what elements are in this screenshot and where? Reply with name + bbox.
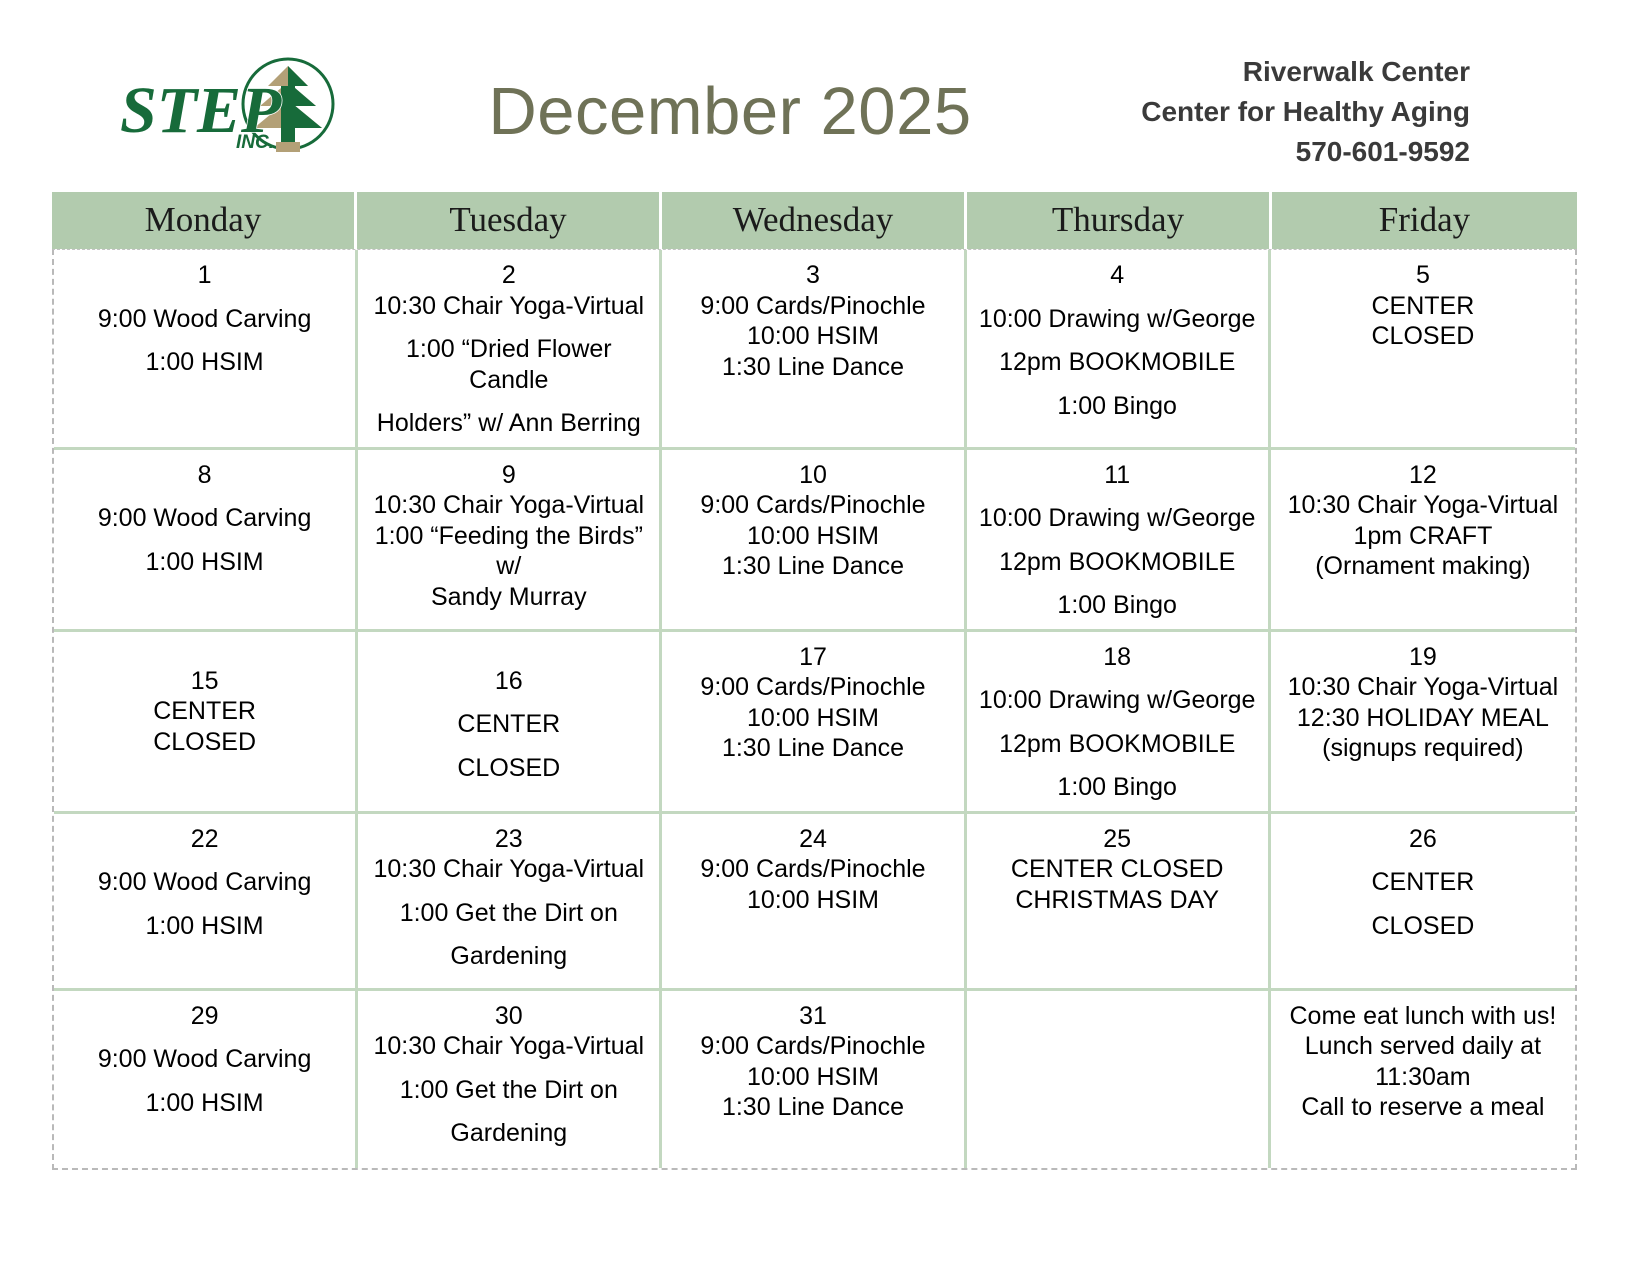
event-line: 10:00 HSIM: [668, 885, 957, 916]
page-header: STEP INC. December 2025 Riverwalk Center…: [0, 0, 1650, 192]
event-line: CENTER: [364, 709, 653, 740]
day-events: Come eat lunch with us!Lunch served dail…: [1277, 1001, 1569, 1123]
event-line: (signups required): [1277, 733, 1569, 764]
event-line: Lunch served daily at: [1277, 1031, 1569, 1062]
event-line: 1:00 Get the Dirt on: [364, 898, 653, 929]
day-number: 4: [973, 260, 1262, 291]
weekday-header-friday: Friday: [1272, 192, 1577, 249]
event-line: 1:30 Line Dance: [668, 733, 957, 764]
calendar-week-row: 89:00 Wood Carving1:00 HSIM910:30 Chair …: [54, 450, 1575, 632]
day-events: 9:00 Wood Carving1:00 HSIM: [60, 867, 349, 941]
day-number: 24: [668, 824, 957, 855]
day-events: 10:00 Drawing w/George12pm BOOKMOBILE1:0…: [973, 503, 1262, 621]
event-line: 9:00 Wood Carving: [60, 867, 349, 898]
event-line: CENTER: [60, 696, 349, 727]
calendar-week-row: 15CENTERCLOSED16CENTERCLOSED179:00 Cards…: [54, 632, 1575, 814]
center-name-line1: Riverwalk Center: [1141, 52, 1470, 92]
day-cell-26[interactable]: 26CENTERCLOSED: [1271, 814, 1575, 988]
event-line: 1:00 Bingo: [973, 772, 1262, 803]
event-line: 9:00 Cards/Pinochle: [668, 672, 957, 703]
day-cell-8[interactable]: 89:00 Wood Carving1:00 HSIM: [54, 450, 358, 629]
event-line: CLOSED: [1277, 321, 1569, 352]
event-line: Holders” w/ Ann Berring: [364, 408, 653, 439]
event-line: 1:30 Line Dance: [668, 551, 957, 582]
center-name-line2: Center for Healthy Aging: [1141, 92, 1470, 132]
event-line: 1pm CRAFT: [1277, 521, 1569, 552]
calendar-week-row: 299:00 Wood Carving1:00 HSIM3010:30 Chai…: [54, 991, 1575, 1168]
day-cell-30[interactable]: 3010:30 Chair Yoga-Virtual1:00 Get the D…: [358, 991, 662, 1168]
calendar-weeks: 19:00 Wood Carving1:00 HSIM210:30 Chair …: [52, 249, 1577, 1170]
event-line: 1:30 Line Dance: [668, 352, 957, 383]
event-line: 12pm BOOKMOBILE: [973, 347, 1262, 378]
day-cell-31[interactable]: 319:00 Cards/Pinochle10:00 HSIM1:30 Line…: [662, 991, 966, 1168]
event-line: 10:30 Chair Yoga-Virtual: [1277, 490, 1569, 521]
day-events: 9:00 Cards/Pinochle10:00 HSIM1:30 Line D…: [668, 291, 957, 383]
day-events: CENTERCLOSED: [60, 696, 349, 757]
event-line: 1:00 HSIM: [60, 911, 349, 942]
event-line: CENTER: [1277, 867, 1569, 898]
center-contact-block: Riverwalk Center Center for Healthy Agin…: [1141, 52, 1470, 171]
event-line: 1:00 HSIM: [60, 1088, 349, 1119]
event-line: 1:00 HSIM: [60, 347, 349, 378]
event-line: 10:30 Chair Yoga-Virtual: [364, 1031, 653, 1062]
day-number: 16: [364, 666, 653, 697]
day-cell-1[interactable]: 19:00 Wood Carving1:00 HSIM: [54, 250, 358, 447]
event-line: Come eat lunch with us!: [1277, 1001, 1569, 1032]
day-number: 8: [60, 460, 349, 491]
event-line: 10:30 Chair Yoga-Virtual: [364, 854, 653, 885]
event-line: 10:30 Chair Yoga-Virtual: [364, 291, 653, 322]
day-number: 30: [364, 1001, 653, 1032]
event-line: 10:30 Chair Yoga-Virtual: [364, 490, 653, 521]
day-cell-18[interactable]: 1810:00 Drawing w/George12pm BOOKMOBILE1…: [967, 632, 1271, 811]
event-line: 9:00 Cards/Pinochle: [668, 490, 957, 521]
event-line: 10:00 Drawing w/George: [973, 503, 1262, 534]
day-number: 22: [60, 824, 349, 855]
day-number: 19: [1277, 642, 1569, 673]
day-cell-19[interactable]: 1910:30 Chair Yoga-Virtual12:30 HOLIDAY …: [1271, 632, 1575, 811]
event-line: CLOSED: [364, 753, 653, 784]
calendar-week-row: 229:00 Wood Carving1:00 HSIM2310:30 Chai…: [54, 814, 1575, 991]
day-events: 9:00 Wood Carving1:00 HSIM: [60, 304, 349, 378]
day-number: 3: [668, 260, 957, 291]
calendar-grid: MondayTuesdayWednesdayThursdayFriday 19:…: [52, 192, 1577, 1170]
calendar-week-row: 19:00 Wood Carving1:00 HSIM210:30 Chair …: [54, 250, 1575, 450]
day-cell-3[interactable]: 39:00 Cards/Pinochle10:00 HSIM1:30 Line …: [662, 250, 966, 447]
event-line: 1:00 “Feeding the Birds” w/: [364, 521, 653, 582]
event-line: 1:00 Get the Dirt on: [364, 1075, 653, 1106]
day-number: 29: [60, 1001, 349, 1032]
event-line: 11:30am: [1277, 1062, 1569, 1093]
event-line: 1:00 HSIM: [60, 547, 349, 578]
event-line: CENTER: [1277, 291, 1569, 322]
day-events: 10:30 Chair Yoga-Virtual1:00 Get the Dir…: [364, 1031, 653, 1149]
event-line: 10:00 Drawing w/George: [973, 685, 1262, 716]
day-cell-24[interactable]: 249:00 Cards/Pinochle10:00 HSIM: [662, 814, 966, 988]
day-cell-9[interactable]: 910:30 Chair Yoga-Virtual1:00 “Feeding t…: [358, 450, 662, 629]
day-events: 9:00 Cards/Pinochle10:00 HSIM: [668, 854, 957, 915]
day-events: 9:00 Cards/Pinochle10:00 HSIM1:30 Line D…: [668, 1031, 957, 1123]
event-line: 10:00 Drawing w/George: [973, 304, 1262, 335]
day-cell-23[interactable]: 2310:30 Chair Yoga-Virtual1:00 Get the D…: [358, 814, 662, 988]
day-events: CENTERCLOSED: [1277, 291, 1569, 352]
day-cell-17[interactable]: 179:00 Cards/Pinochle10:00 HSIM1:30 Line…: [662, 632, 966, 811]
day-number: 26: [1277, 824, 1569, 855]
day-events: 10:30 Chair Yoga-Virtual1:00 Get the Dir…: [364, 854, 653, 972]
day-cell-empty[interactable]: [967, 991, 1271, 1168]
event-line: Sandy Murray: [364, 582, 653, 613]
day-cell-22[interactable]: 229:00 Wood Carving1:00 HSIM: [54, 814, 358, 988]
day-cell-25[interactable]: 25CENTER CLOSEDCHRISTMAS DAY: [967, 814, 1271, 988]
day-number: 12: [1277, 460, 1569, 491]
day-cell-4[interactable]: 410:00 Drawing w/George12pm BOOKMOBILE1:…: [967, 250, 1271, 447]
day-cell-11[interactable]: 1110:00 Drawing w/George12pm BOOKMOBILE1…: [967, 450, 1271, 629]
weekday-header-row: MondayTuesdayWednesdayThursdayFriday: [52, 192, 1577, 249]
event-line: CENTER CLOSED: [973, 854, 1262, 885]
day-events: 10:00 Drawing w/George12pm BOOKMOBILE1:0…: [973, 304, 1262, 422]
day-events: CENTER CLOSEDCHRISTMAS DAY: [973, 854, 1262, 915]
event-line: 10:00 HSIM: [668, 321, 957, 352]
center-phone: 570-601-9592: [1141, 132, 1470, 172]
day-events: 10:30 Chair Yoga-Virtual1:00 “Feeding th…: [364, 490, 653, 612]
day-cell-12[interactable]: 1210:30 Chair Yoga-Virtual1pm CRAFT(Orna…: [1271, 450, 1575, 629]
day-events: CENTERCLOSED: [1277, 867, 1569, 941]
event-line: 9:00 Wood Carving: [60, 503, 349, 534]
event-line: Call to reserve a meal: [1277, 1092, 1569, 1123]
weekday-header-wednesday: Wednesday: [662, 192, 967, 249]
weekday-header-thursday: Thursday: [967, 192, 1272, 249]
event-line: 12pm BOOKMOBILE: [973, 729, 1262, 760]
day-number: 10: [668, 460, 957, 491]
day-number: 9: [364, 460, 653, 491]
day-cell-empty[interactable]: Come eat lunch with us!Lunch served dail…: [1271, 991, 1575, 1168]
weekday-header-tuesday: Tuesday: [357, 192, 662, 249]
day-number: 18: [973, 642, 1262, 673]
event-line: 12pm BOOKMOBILE: [973, 547, 1262, 578]
day-number: 1: [60, 260, 349, 291]
day-number: 15: [60, 666, 349, 697]
event-line: Gardening: [364, 1118, 653, 1149]
day-events: 10:30 Chair Yoga-Virtual1pm CRAFT(Orname…: [1277, 490, 1569, 582]
day-number: 11: [973, 460, 1262, 491]
day-number: 23: [364, 824, 653, 855]
event-line: CLOSED: [60, 727, 349, 758]
event-line: 1:30 Line Dance: [668, 1092, 957, 1123]
day-cell-10[interactable]: 109:00 Cards/Pinochle10:00 HSIM1:30 Line…: [662, 450, 966, 629]
day-events: 9:00 Wood Carving1:00 HSIM: [60, 1044, 349, 1118]
event-line: 10:00 HSIM: [668, 521, 957, 552]
day-number: 31: [668, 1001, 957, 1032]
event-line: 1:00 Bingo: [973, 391, 1262, 422]
day-cell-5[interactable]: 5CENTERCLOSED: [1271, 250, 1575, 447]
event-line: 12:30 HOLIDAY MEAL: [1277, 703, 1569, 734]
month-title: December 2025: [430, 78, 1030, 145]
day-cell-15[interactable]: 15CENTERCLOSED: [54, 632, 358, 811]
event-line: 9:00 Cards/Pinochle: [668, 854, 957, 885]
day-events: 9:00 Wood Carving1:00 HSIM: [60, 503, 349, 577]
event-line: 9:00 Wood Carving: [60, 304, 349, 335]
day-cell-29[interactable]: 299:00 Wood Carving1:00 HSIM: [54, 991, 358, 1168]
day-events: 9:00 Cards/Pinochle10:00 HSIM1:30 Line D…: [668, 490, 957, 582]
event-line: 9:00 Cards/Pinochle: [668, 1031, 957, 1062]
event-line: 10:30 Chair Yoga-Virtual: [1277, 672, 1569, 703]
weekday-header-monday: Monday: [52, 192, 357, 249]
day-events: CENTERCLOSED: [364, 709, 653, 783]
event-line: (Ornament making): [1277, 551, 1569, 582]
step-inc-logo: STEP INC.: [118, 52, 348, 167]
day-number: 5: [1277, 260, 1569, 291]
event-line: 1:00 Bingo: [973, 590, 1262, 621]
day-events: 10:30 Chair Yoga-Virtual12:30 HOLIDAY ME…: [1277, 672, 1569, 764]
event-line: 9:00 Wood Carving: [60, 1044, 349, 1075]
event-line: CLOSED: [1277, 911, 1569, 942]
day-number: 25: [973, 824, 1262, 855]
calendar-page: STEP INC. December 2025 Riverwalk Center…: [0, 0, 1650, 1275]
event-line: 10:00 HSIM: [668, 703, 957, 734]
event-line: CHRISTMAS DAY: [973, 885, 1262, 916]
day-events: 10:30 Chair Yoga-Virtual1:00 “Dried Flow…: [364, 291, 653, 439]
day-cell-16[interactable]: 16CENTERCLOSED: [358, 632, 662, 811]
day-number: 2: [364, 260, 653, 291]
day-number: 17: [668, 642, 957, 673]
svg-text:INC.: INC.: [236, 132, 274, 153]
day-events: 10:00 Drawing w/George12pm BOOKMOBILE1:0…: [973, 685, 1262, 803]
event-line: 9:00 Cards/Pinochle: [668, 291, 957, 322]
event-line: Gardening: [364, 941, 653, 972]
day-events: 9:00 Cards/Pinochle10:00 HSIM1:30 Line D…: [668, 672, 957, 764]
event-line: 10:00 HSIM: [668, 1062, 957, 1093]
day-cell-2[interactable]: 210:30 Chair Yoga-Virtual1:00 “Dried Flo…: [358, 250, 662, 447]
event-line: 1:00 “Dried Flower Candle: [364, 334, 653, 395]
